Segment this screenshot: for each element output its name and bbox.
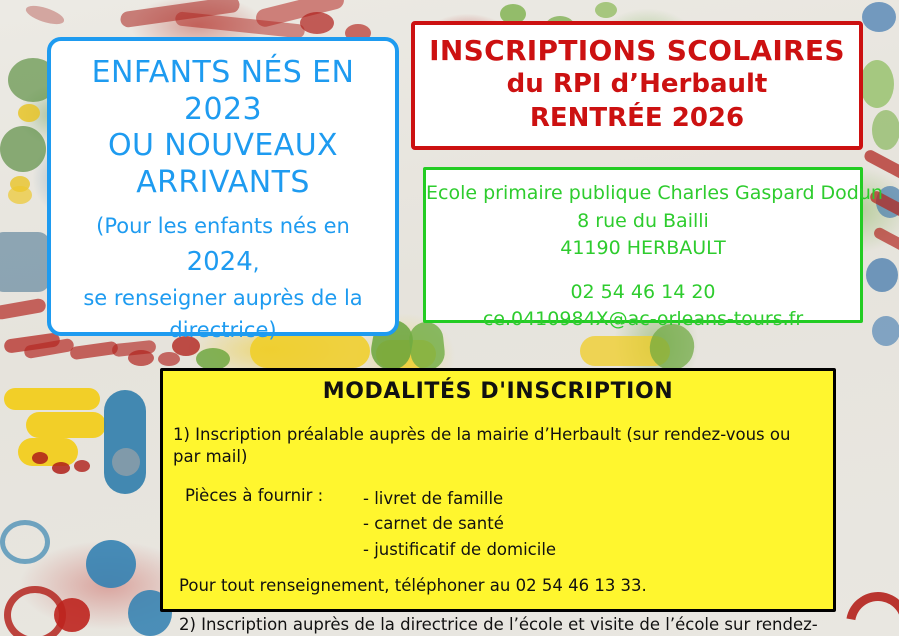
paint-blob-red [128, 350, 154, 366]
paint-blob-green [872, 110, 899, 150]
school-email: ce.0410984X@ac-orleans-tours.fr [426, 306, 860, 334]
blue-note-text-before: (Pour les enfants nés en [96, 214, 350, 238]
paint-stroke-red [862, 148, 899, 184]
blue-note-line-3: directrice) [61, 315, 385, 347]
paint-stroke-red [0, 298, 47, 321]
paint-blob-green [860, 60, 894, 108]
title-line-inscriptions: INSCRIPTIONS SCOLAIRES [415, 34, 859, 68]
paint-blob-red [74, 460, 90, 472]
paint-blob-red [52, 462, 70, 474]
registration-step-1: 1) Inscription préalable auprès de la ma… [173, 424, 823, 469]
poster-root: ENFANTS NÉS EN 2023 OU NOUVEAUX ARRIVANT… [0, 0, 899, 636]
paint-blob-blue [86, 540, 136, 588]
document-item: - livret de famille [363, 486, 556, 512]
registration-details-title: MODALITÉS D'INSCRIPTION [173, 379, 823, 404]
paint-blob-green [196, 348, 230, 370]
blue-card-heading: ENFANTS NÉS EN 2023 OU NOUVEAUX ARRIVANT… [61, 55, 385, 201]
blue-heading-line-2: 2023 [61, 92, 385, 129]
paint-stroke-yellow [26, 412, 106, 438]
paint-stroke-yellow [4, 388, 100, 410]
children-birth-year-card: ENFANTS NÉS EN 2023 OU NOUVEAUX ARRIVANT… [47, 37, 399, 336]
paint-stroke-blue [0, 232, 50, 292]
paint-blob-red [300, 12, 334, 34]
title-line-rpi: du RPI d’Herbault [415, 68, 859, 102]
blue-note-line-2: se renseigner auprès de la [61, 283, 385, 315]
paint-blob-red [158, 352, 180, 366]
paint-blob-yellow [18, 104, 40, 122]
documents-list: - livret de famille - carnet de santé - … [363, 486, 556, 563]
main-title-card: INSCRIPTIONS SCOLAIRES du RPI d’Herbault… [411, 21, 863, 150]
paint-blob-red [32, 452, 48, 464]
title-line-rentree: RENTRÉE 2026 [415, 102, 859, 136]
paint-blob-green [0, 126, 46, 172]
paint-stroke-red [872, 226, 899, 257]
paint-stroke-yellow [18, 438, 78, 466]
school-phone: 02 54 46 14 20 [426, 279, 860, 307]
school-name: Ecole primaire publique Charles Gaspard … [426, 180, 860, 208]
paint-blob-grey [112, 448, 140, 476]
paint-blob-blue [866, 258, 898, 292]
paint-stroke-blue [104, 390, 146, 494]
documents-label: Pièces à fournir : [173, 486, 363, 505]
registration-info-phone: Pour tout renseignement, téléphoner au 0… [173, 575, 823, 597]
paint-blob-yellow [8, 186, 32, 204]
blue-note-year: 2024 [187, 247, 253, 277]
document-item: - carnet de santé [363, 511, 556, 537]
paint-blob-blue-ring [0, 520, 50, 564]
registration-step-2: 2) Inscription auprès de la directrice d… [173, 614, 823, 636]
school-contact-card: Ecole primaire publique Charles Gaspard … [423, 167, 863, 323]
blue-heading-line-4: ARRIVANTS [61, 165, 385, 202]
blue-heading-line-1: ENFANTS NÉS EN [61, 55, 385, 92]
registration-details-card: MODALITÉS D'INSCRIPTION 1) Inscription p… [160, 368, 836, 612]
blue-heading-line-3: OU NOUVEAUX [61, 128, 385, 165]
paint-blob-green [595, 2, 617, 18]
school-street: 8 rue du Bailli [426, 208, 860, 236]
blue-card-note: (Pour les enfants nés en 2024, se rensei… [61, 211, 385, 346]
spacer [426, 263, 860, 279]
paint-blob-red [24, 2, 66, 28]
blue-note-line-1: (Pour les enfants nés en 2024, [61, 211, 385, 282]
documents-section: Pièces à fournir : - livret de famille -… [173, 486, 823, 563]
paint-blob-blue [872, 316, 899, 346]
paint-blob-red-ring [833, 579, 899, 636]
document-item: - justificatif de domicile [363, 537, 556, 563]
school-city: 41190 HERBAULT [426, 235, 860, 263]
paint-blob-red [54, 598, 90, 632]
paint-blob-blue [862, 2, 896, 32]
blue-note-text-after: , [253, 251, 260, 275]
